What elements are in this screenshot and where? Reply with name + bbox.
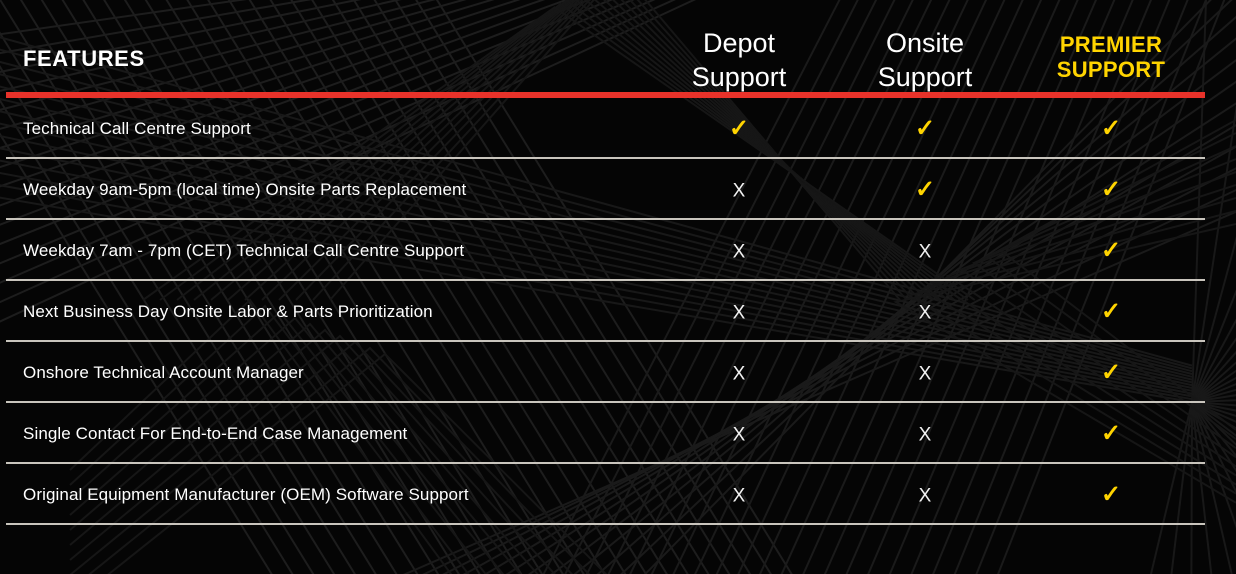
cross-icon: X xyxy=(733,241,746,262)
cross-icon: X xyxy=(733,363,746,384)
feature-label: Next Business Day Onsite Labor & Parts P… xyxy=(23,302,433,322)
row-divider xyxy=(6,340,1205,342)
header-accent-rule xyxy=(6,92,1205,98)
feature-label: Onshore Technical Account Manager xyxy=(23,363,304,383)
features-column-header: FEATURES xyxy=(23,46,145,72)
table-row: Next Business Day Onsite Labor & Parts P… xyxy=(0,281,1236,342)
cross-icon: X xyxy=(733,424,746,445)
row-divider xyxy=(6,462,1205,464)
cross-icon: X xyxy=(733,302,746,323)
feature-label: Weekday 7am - 7pm (CET) Technical Call C… xyxy=(23,241,464,261)
table-row: Weekday 9am-5pm (local time) Onsite Part… xyxy=(0,159,1236,220)
feature-label: Weekday 9am-5pm (local time) Onsite Part… xyxy=(23,180,466,200)
cell-included: ✓ xyxy=(1001,117,1221,141)
table-row: Original Equipment Manufacturer (OEM) So… xyxy=(0,464,1236,525)
cross-icon: X xyxy=(919,241,932,262)
table-row: Onshore Technical Account ManagerXX✓ xyxy=(0,342,1236,403)
cross-icon: X xyxy=(919,302,932,323)
table-header-row: FEATURES Depot Support Onsite Support PR… xyxy=(0,0,1236,96)
row-divider xyxy=(6,218,1205,220)
cross-icon: X xyxy=(733,485,746,506)
feature-label: Original Equipment Manufacturer (OEM) So… xyxy=(23,485,469,505)
table-row: Technical Call Centre Support✓✓✓ xyxy=(0,98,1236,159)
column-header-premier-support: PREMIER SUPPORT xyxy=(1001,32,1221,82)
table-body: Technical Call Centre Support✓✓✓Weekday … xyxy=(0,98,1236,525)
cell-included: ✓ xyxy=(1001,483,1221,507)
feature-label: Technical Call Centre Support xyxy=(23,119,251,139)
check-icon: ✓ xyxy=(1101,481,1121,508)
cross-icon: X xyxy=(919,485,932,506)
cell-included: ✓ xyxy=(1001,178,1221,202)
cell-included: ✓ xyxy=(1001,422,1221,446)
cell-included: ✓ xyxy=(1001,239,1221,263)
check-icon: ✓ xyxy=(1101,420,1121,447)
row-divider xyxy=(6,279,1205,281)
cross-icon: X xyxy=(733,180,746,201)
cross-icon: X xyxy=(919,363,932,384)
check-icon: ✓ xyxy=(1101,115,1121,142)
feature-label: Single Contact For End-to-End Case Manag… xyxy=(23,424,407,444)
support-comparison-slide: FEATURES Depot Support Onsite Support PR… xyxy=(0,0,1236,574)
comparison-table: FEATURES Depot Support Onsite Support PR… xyxy=(0,0,1236,574)
check-icon: ✓ xyxy=(915,176,935,203)
table-row: Single Contact For End-to-End Case Manag… xyxy=(0,403,1236,464)
row-divider xyxy=(6,523,1205,525)
check-icon: ✓ xyxy=(1101,237,1121,264)
row-divider xyxy=(6,157,1205,159)
check-icon: ✓ xyxy=(1101,359,1121,386)
check-icon: ✓ xyxy=(729,115,749,142)
cell-included: ✓ xyxy=(1001,300,1221,324)
check-icon: ✓ xyxy=(1101,176,1121,203)
row-divider xyxy=(6,401,1205,403)
check-icon: ✓ xyxy=(1101,298,1121,325)
table-row: Weekday 7am - 7pm (CET) Technical Call C… xyxy=(0,220,1236,281)
cross-icon: X xyxy=(919,424,932,445)
check-icon: ✓ xyxy=(915,115,935,142)
cell-included: ✓ xyxy=(1001,361,1221,385)
